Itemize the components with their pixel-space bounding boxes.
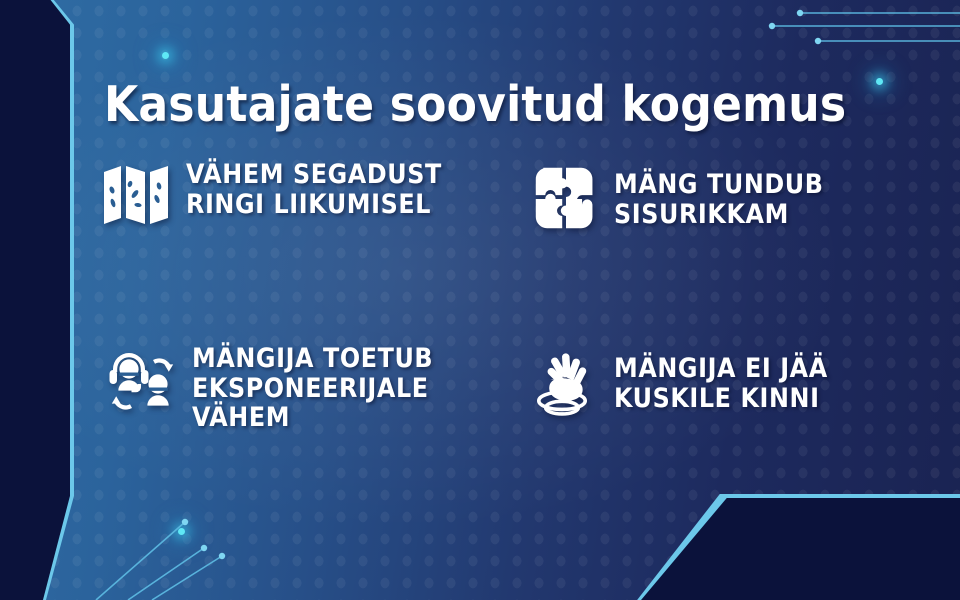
- page-title: Kasutajate soovitud kogemus: [104, 76, 846, 133]
- feature-item: MÄNGIJA EI JÄÄ KUSKILE KINNI: [524, 348, 924, 424]
- feature-label: MÄNGIJA TOETUB EKSPONEERIJALE VÄHEM: [192, 342, 516, 433]
- feature-item: MÄNG TUNDUB SISURIKKAM: [532, 164, 922, 232]
- feature-item: VÄHEM SEGADUST RINGI LIIKUMISEL: [100, 158, 500, 230]
- slide: Kasutajate soovitud kogemus: [0, 0, 960, 600]
- feature-label: MÄNGIJA EI JÄÄ KUSKILE KINNI: [614, 348, 924, 413]
- feature-grid: VÄHEM SEGADUST RINGI LIIKUMISEL MÄNG TUN…: [100, 158, 920, 458]
- puzzle-pieces-icon: [532, 164, 600, 232]
- hand-in-quicksand-icon: [524, 348, 600, 424]
- folded-map-icon: [100, 158, 172, 230]
- feature-label: VÄHEM SEGADUST RINGI LIIKUMISEL: [186, 158, 500, 219]
- feature-item: MÄNGIJA TOETUB EKSPONEERIJALE VÄHEM: [106, 342, 516, 433]
- players-headset-exchange-icon: [106, 342, 178, 414]
- feature-label: MÄNG TUNDUB SISURIKKAM: [614, 164, 922, 229]
- slide-content: Kasutajate soovitud kogemus: [0, 0, 960, 600]
